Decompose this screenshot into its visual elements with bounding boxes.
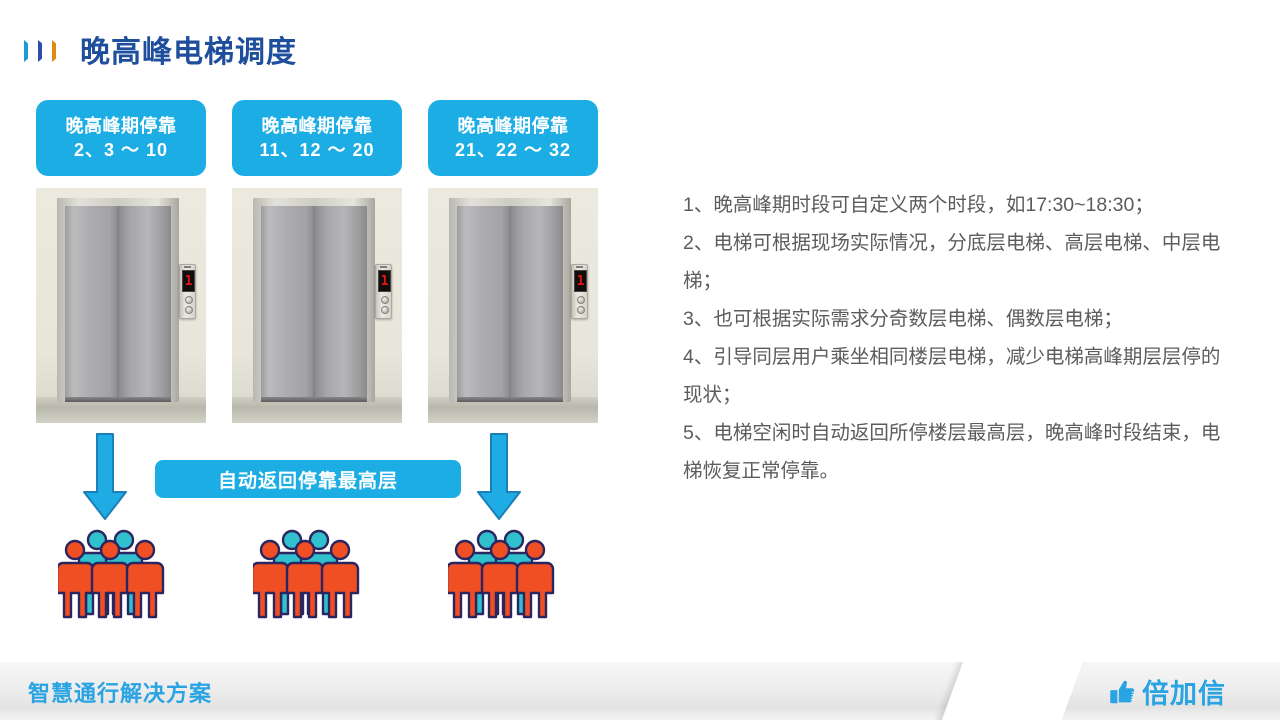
elevator-photo-high: 1 — [428, 188, 598, 423]
footer-brand: 倍加信 — [1108, 672, 1226, 711]
floor-badge-title: 晚高峰期停靠 — [458, 114, 569, 138]
call-button-up-icon — [185, 296, 193, 304]
panel-cap — [380, 266, 387, 268]
page-title: 晚高峰电梯调度 — [80, 27, 297, 71]
floor-indicator-display: 1 — [378, 270, 391, 292]
floor-indicator-display: 1 — [182, 270, 195, 292]
elevator-photo-mid: 1 — [232, 188, 402, 423]
footer-solution-label: 智慧通行解决方案 — [28, 676, 212, 708]
elevator-door-frame — [253, 198, 375, 402]
page-footer: 智慧通行解决方案 倍加信 — [0, 662, 1280, 720]
page-header: 晚高峰电梯调度 — [0, 0, 1280, 86]
elevator-doors — [65, 206, 171, 402]
note-item-2: 2、电梯可根据现场实际情况，分底层电梯、高层电梯、中层电梯； — [683, 224, 1223, 300]
people-group-mid — [253, 528, 383, 620]
call-button-down-icon — [577, 306, 585, 314]
note-item-1: 1、晚高峰期时段可自定义两个时段，如17:30~18:30； — [683, 186, 1223, 224]
floor-badge-range: 21、22 ～ 32 — [455, 138, 571, 162]
down-arrow-icon-left — [82, 432, 128, 522]
feature-notes-list: 1、晚高峰期时段可自定义两个时段，如17:30~18:30； 2、电梯可根据现场… — [683, 186, 1223, 490]
chevron-icon-1 — [24, 40, 37, 62]
elevator-door-frame — [449, 198, 571, 402]
chevron-icon-3 — [52, 40, 65, 62]
auto-return-banner: 自动返回停靠最高层 — [155, 460, 461, 498]
down-arrow-icon-right — [476, 432, 522, 522]
call-button-up-icon — [381, 296, 389, 304]
note-item-3: 3、也可根据实际需求分奇数层电梯、偶数层电梯； — [683, 300, 1223, 338]
floor-badge-range: 11、12 ～ 20 — [259, 138, 374, 162]
elevator-call-panel: 1 — [179, 264, 196, 319]
floor-indicator-display: 1 — [574, 270, 587, 292]
elevator-call-panel: 1 — [571, 264, 588, 319]
elevator-photo-low: 1 — [36, 188, 206, 423]
thumbs-up-icon — [1108, 677, 1138, 707]
panel-cap — [576, 266, 583, 268]
call-button-down-icon — [381, 306, 389, 314]
panel-cap — [184, 266, 191, 268]
people-group-high — [448, 528, 578, 620]
note-item-5: 5、电梯空闲时自动返回所停楼层最高层，晚高峰时段结束，电梯恢复正常停靠。 — [683, 414, 1223, 490]
floor-badge-title: 晚高峰期停靠 — [262, 114, 373, 138]
elevator-door-frame — [57, 198, 179, 402]
note-item-4: 4、引导同层用户乘坐相同楼层电梯，减少电梯高峰期层层停的现状； — [683, 338, 1223, 414]
call-button-up-icon — [577, 296, 585, 304]
people-group-low — [58, 528, 188, 620]
elevator-doors — [457, 206, 563, 402]
elevator-doors — [261, 206, 367, 402]
floor-badge-high: 晚高峰期停靠 21、22 ～ 32 — [428, 100, 598, 176]
chevron-icon-2 — [38, 40, 51, 62]
floor-badge-low: 晚高峰期停靠 2、3 ～ 10 — [36, 100, 206, 176]
floor-badge-range: 2、3 ～ 10 — [74, 138, 168, 162]
brand-name: 倍加信 — [1142, 672, 1226, 711]
floor-badge-title: 晚高峰期停靠 — [66, 114, 177, 138]
footer-divider — [935, 662, 1088, 720]
floor-badge-mid: 晚高峰期停靠 11、12 ～ 20 — [232, 100, 402, 176]
call-button-down-icon — [185, 306, 193, 314]
elevator-call-panel: 1 — [375, 264, 392, 319]
triple-chevron-icon — [24, 34, 82, 70]
